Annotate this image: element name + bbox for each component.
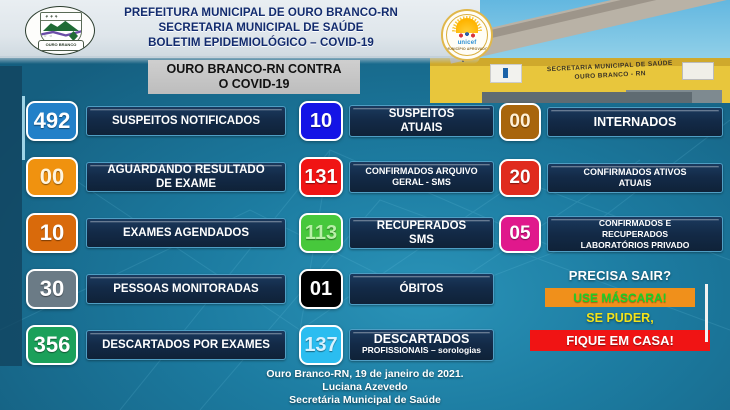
stat-value-column-1-5: 356 [26, 325, 78, 365]
covid-bulletin-poster: SECRETARIA MUNICIPAL DE SAÚDE OURO BRANC… [0, 0, 730, 410]
coat-of-arms-ribbon: OURO BRANCO [38, 40, 84, 51]
stat-label-column-1-3: EXAMES AGENDADOS [86, 218, 286, 248]
advisory-title: PRECISA SAIR? [520, 268, 720, 283]
stat-label-column-2-1: SUSPEITOSATUAIS [349, 105, 494, 137]
stat-label-column-1-4: PESSOAS MONITORADAS [86, 274, 286, 304]
stat-value-column-1-4: 30 [26, 269, 78, 309]
stat-label-line-1: CONFIRMADOS ATIVOS [584, 167, 687, 179]
footer: Ouro Branco-RN, 19 de janeiro de 2021. L… [0, 368, 730, 407]
header-title-line3: BOLETIM EPIDEMIOLÓGICO – COVID-19 [96, 36, 426, 51]
coat-of-arms-hill [43, 20, 79, 31]
stat-value-column-2-1: 10 [299, 101, 343, 141]
stat-value-column-1-1: 492 [26, 101, 78, 141]
stat-value-column-3-3: 05 [499, 215, 541, 253]
stat-value-column-1-3: 10 [26, 213, 78, 253]
stat-label-column-1-1: SUSPEITOS NOTIFICADOS [86, 106, 286, 136]
stat-label-line-3: LABORATÓRIOS PRIVADO [581, 240, 690, 251]
stat-label-column-2-2: CONFIRMADOS ARQUIVOGERAL - SMS [349, 161, 494, 193]
stat-value-column-2-5: 137 [299, 325, 343, 365]
footer-line1: Ouro Branco-RN, 19 de janeiro de 2021. [0, 368, 730, 381]
photo-sus-logo [490, 64, 522, 83]
stat-label-line-1: CONFIRMADOS E [599, 218, 671, 229]
subtitle-banner: OURO BRANCO-RN CONTRA O COVID-19 [148, 60, 360, 94]
seal-wordmark: unicef [443, 40, 491, 46]
unicef-seal-icon: unicef MUNICÍPIO APROVADO [441, 9, 493, 61]
header-title-line2: SECRETARIA MUNICIPAL DE SAÚDE [96, 21, 426, 36]
stat-label-line-1: CONFIRMADOS ARQUIVO [365, 166, 477, 178]
city-coat-of-arms-icon: ⚘ ⚘ ⚘ ○ ○ 1963 RN OURO BRANCO [25, 6, 95, 55]
stat-label-column-2-3: RECUPERADOSSMS [349, 217, 494, 249]
stat-label-line-1: AGUARDANDO RESULTADO [107, 163, 264, 177]
header-title-line1: PREFEITURA MUNICIPAL DE OURO BRANCO-RN [96, 6, 426, 21]
subtitle-line1: OURO BRANCO-RN CONTRA [167, 62, 342, 77]
advisory-use-mask: USE MÁSCARA! [545, 288, 695, 307]
stat-label-line-1: EXAMES AGENDADOS [123, 226, 249, 240]
header-title: PREFEITURA MUNICIPAL DE OURO BRANCO-RN S… [96, 6, 426, 51]
subtitle-line2: O COVID-19 [167, 77, 342, 92]
stat-value-column-2-2: 131 [299, 157, 343, 197]
advisory-block: PRECISA SAIR? USE MÁSCARA! SE PUDER, FIQ… [520, 268, 720, 351]
advisory-stay-home: FIQUE EM CASA! [530, 330, 710, 351]
stat-label-line-1: SUSPEITOS [389, 107, 455, 121]
coat-of-arms-dots: ○ ○ [44, 33, 53, 38]
stat-label-line-1: INTERNADOS [594, 115, 677, 130]
stat-value-column-2-3: 113 [299, 213, 343, 253]
stat-label-column-3-1: INTERNADOS [547, 107, 723, 137]
coat-of-arms-state: RN [86, 49, 91, 53]
stat-label-line-1: DESCARTADOS [374, 334, 470, 346]
stat-label-line-2: DE EXAME [156, 177, 216, 191]
stat-label-column-3-3: CONFIRMADOS ERECUPERADOSLABORATÓRIOS PRI… [547, 216, 723, 252]
stat-label-line-2: PROFISSIONAIS – sorologias [362, 345, 481, 357]
stat-label-line-2: SMS [409, 233, 434, 247]
photo-windows [482, 92, 692, 103]
footer-line2: Luciana Azevedo [0, 381, 730, 394]
stat-label-line-1: DESCARTADOS POR EXAMES [102, 338, 270, 352]
coat-of-arms-year: 1963 [29, 49, 37, 53]
stat-label-column-1-2: AGUARDANDO RESULTADODE EXAME [86, 162, 286, 192]
stat-label-line-2: ATUAIS [401, 121, 443, 135]
stat-label-line-2: ATUAIS [619, 178, 652, 190]
advisory-divider [705, 284, 708, 342]
left-edge-strip [0, 66, 22, 366]
seal-subtitle: MUNICÍPIO APROVADO [443, 47, 491, 51]
stat-value-column-2-4: 01 [299, 269, 343, 309]
coat-of-arms-chief-symbols: ⚘ ⚘ ⚘ [45, 14, 58, 19]
seal-people [457, 31, 477, 40]
stat-label-line-1: RECUPERADOS [377, 219, 466, 233]
stat-label-line-1: PESSOAS MONITORADAS [113, 282, 258, 296]
advisory-if-possible: SE PUDER, [540, 311, 700, 325]
left-accent-line [22, 96, 25, 160]
stat-label-column-2-5: DESCARTADOSPROFISSIONAIS – sorologias [349, 329, 494, 361]
stat-value-column-3-2: 20 [499, 159, 541, 197]
stat-value-column-1-2: 00 [26, 157, 78, 197]
stat-label-line-1: ÓBITOS [400, 282, 444, 296]
stat-value-column-3-1: 00 [499, 103, 541, 141]
stat-label-line-2: GERAL - SMS [392, 177, 451, 189]
stat-label-line-2: RECUPERADOS [602, 229, 668, 240]
footer-line3: Secretária Municipal de Saúde [0, 394, 730, 407]
stat-label-column-2-4: ÓBITOS [349, 273, 494, 305]
coat-of-arms-chief: ⚘ ⚘ ⚘ [41, 13, 81, 21]
stat-label-line-1: SUSPEITOS NOTIFICADOS [112, 114, 260, 128]
stat-label-column-1-5: DESCARTADOS POR EXAMES [86, 330, 286, 360]
stat-label-column-3-2: CONFIRMADOS ATIVOSATUAIS [547, 163, 723, 193]
